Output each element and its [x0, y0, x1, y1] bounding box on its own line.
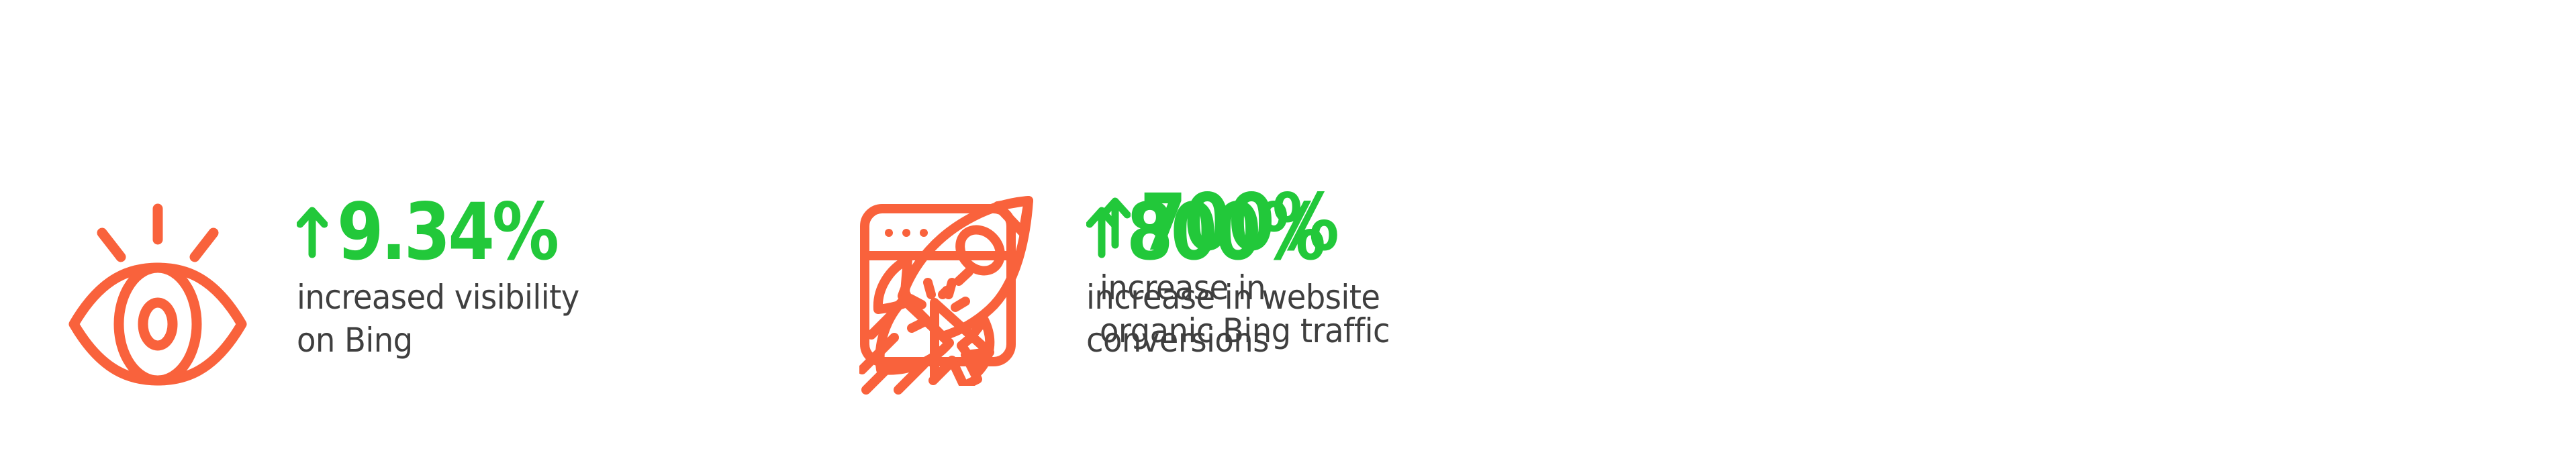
arrow-up-icon: [1086, 206, 1117, 258]
stat-caption: increase in website conversions: [1086, 276, 1380, 362]
browser-window-click-icon: [859, 203, 1033, 386]
stat-headline-visibility: 9.34%: [297, 197, 600, 261]
stat-headline-conversions: 800%: [1086, 197, 1402, 261]
stat-text-visibility: 9.34% increased visibility on Bing: [297, 197, 600, 362]
stat-text-conversions: 800% increase in website conversions: [1086, 197, 1402, 362]
stat-caption: increased visibility on Bing: [297, 276, 579, 362]
stat-metric-value: 800%: [1127, 197, 1323, 268]
stats-row: 9.34% increased visibility on Bing: [0, 0, 2576, 463]
stat-metric-value: 9.34%: [337, 197, 557, 268]
